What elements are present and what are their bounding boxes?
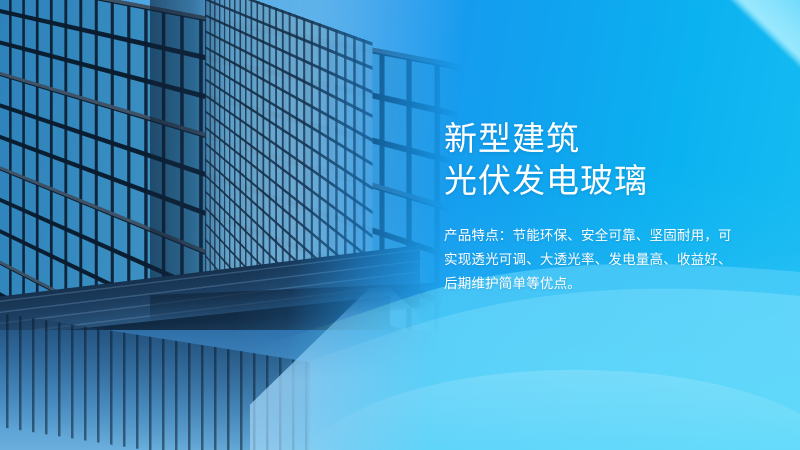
headline-line-2: 光伏发电玻璃 [444,160,764,202]
page-title: 新型建筑 光伏发电玻璃 [444,118,764,202]
product-description: 产品特点：节能环保、安全可靠、坚固耐用，可实现透光可调、大透光率、发电量高、收益… [444,224,734,296]
building-photo [0,0,470,450]
banner-text-block: 新型建筑 光伏发电玻璃 产品特点：节能环保、安全可靠、坚固耐用，可实现透光可调、… [444,118,764,296]
headline-line-1: 新型建筑 [444,120,580,157]
facade-corner-shadow [150,0,224,311]
product-banner: 新型建筑 光伏发电玻璃 产品特点：节能环保、安全可靠、坚固耐用，可实现透光可调、… [0,0,800,450]
